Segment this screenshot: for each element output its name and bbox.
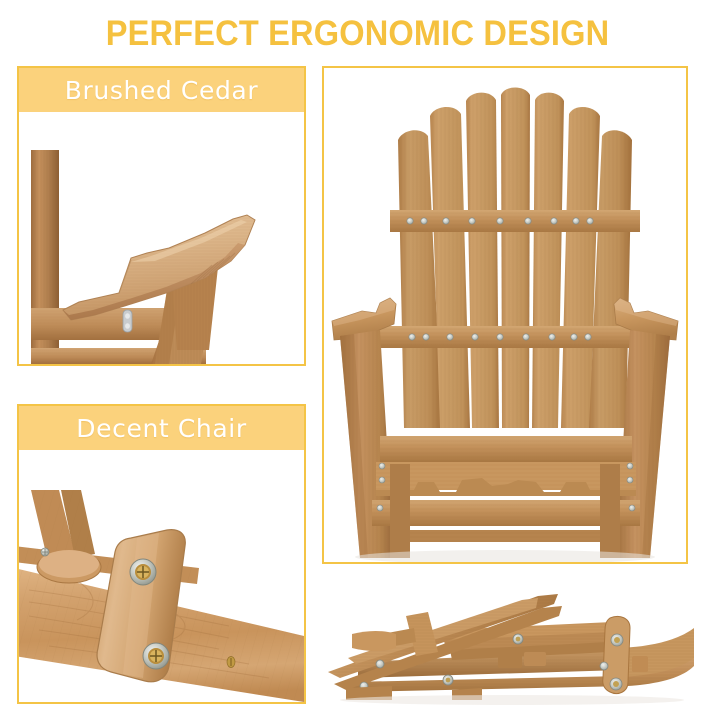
adirondack-chair-illustration bbox=[324, 68, 686, 562]
panel-label-decent-chair: Decent Chair bbox=[76, 416, 246, 441]
rail-screw-icon bbox=[227, 657, 235, 668]
panel-decent-chair: Decent Chair bbox=[17, 404, 306, 704]
hinge-illustration bbox=[19, 450, 304, 702]
metal-bracket-icon bbox=[123, 310, 132, 332]
product-infographic: PERFECT ERGONOMIC DESIGN Brushed Cedar bbox=[0, 0, 715, 715]
photo-decent-chair-hinge bbox=[19, 450, 304, 702]
panel-chair-main bbox=[322, 66, 688, 564]
panel-brushed-cedar: Brushed Cedar bbox=[17, 66, 306, 366]
folded-chair-illustration bbox=[322, 578, 702, 706]
hinge-screw-upper-icon bbox=[130, 559, 156, 585]
folded-hinge-bar bbox=[603, 616, 630, 693]
page-title: PERFECT ERGONOMIC DESIGN bbox=[25, 14, 690, 54]
panel-label-brushed-cedar: Brushed Cedar bbox=[65, 78, 258, 103]
photo-brushed-cedar-armrest bbox=[19, 112, 304, 364]
screw-icon bbox=[41, 548, 49, 556]
armrest-illustration bbox=[19, 112, 304, 364]
panel-header-decent-chair: Decent Chair bbox=[19, 406, 304, 450]
photo-adirondack-chair-front bbox=[324, 68, 686, 562]
panel-header-brushed-cedar: Brushed Cedar bbox=[19, 68, 304, 112]
photo-folded-chair bbox=[322, 578, 702, 706]
hinge-screw-lower-icon bbox=[143, 643, 169, 669]
chair-back-slats bbox=[398, 88, 632, 429]
